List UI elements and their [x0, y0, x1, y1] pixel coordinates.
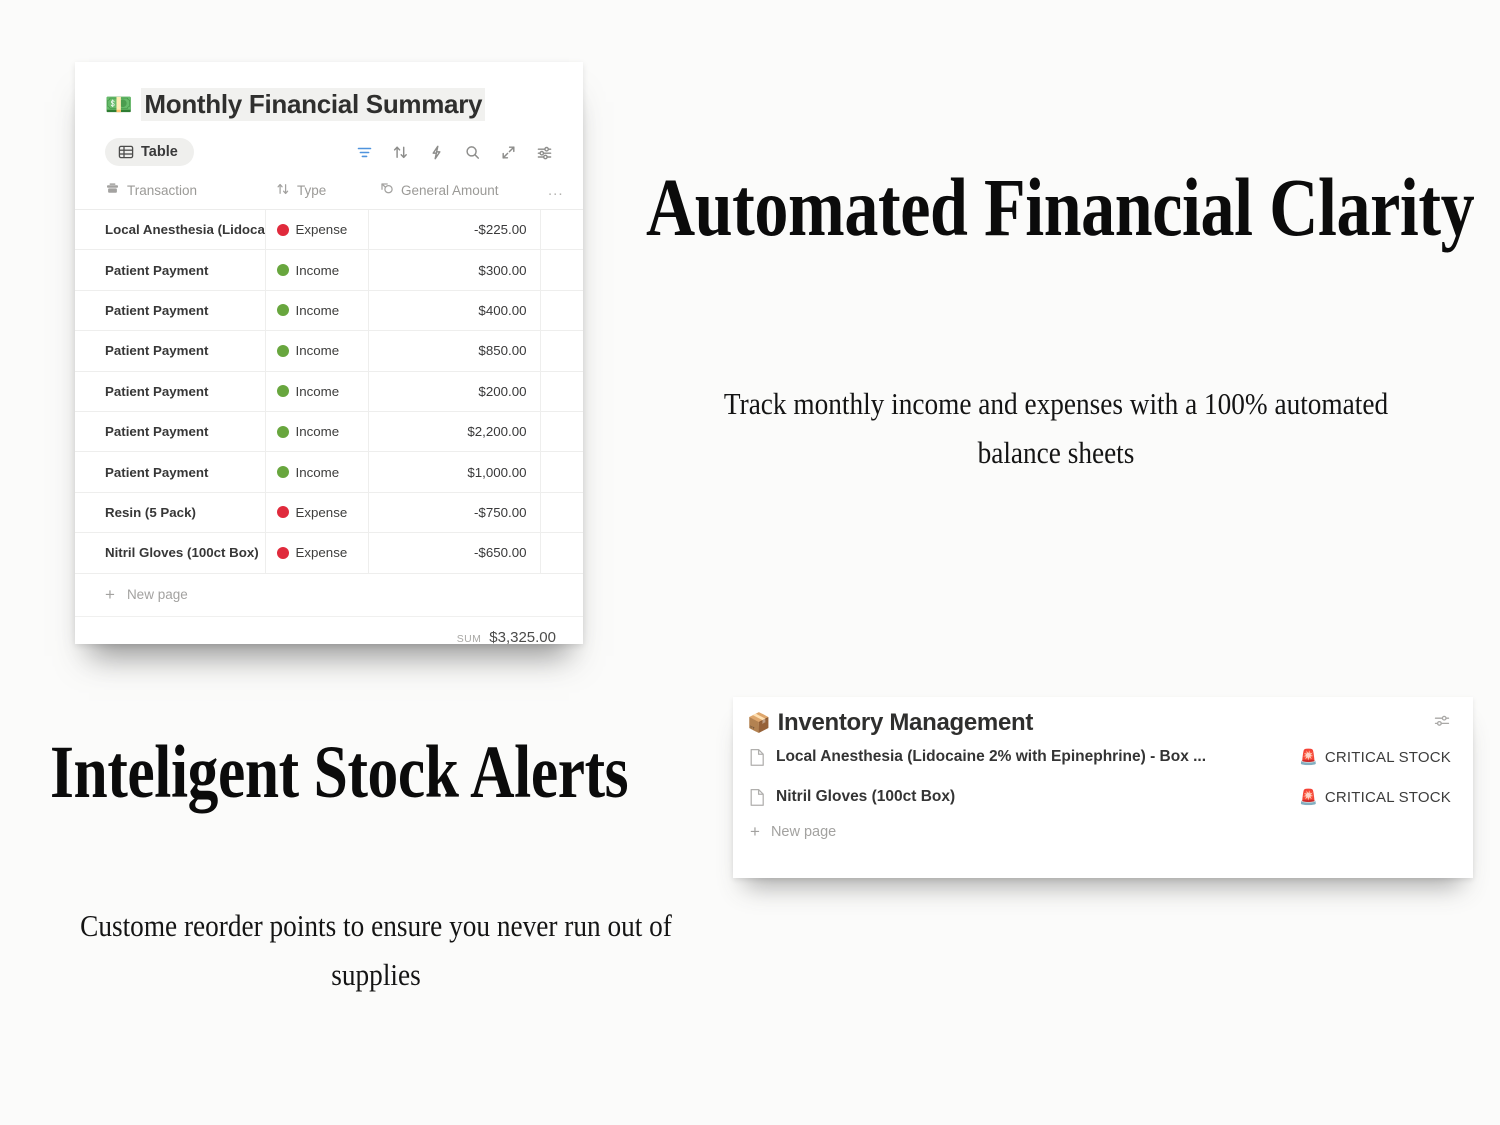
amount-value: $400.00 — [369, 303, 540, 318]
page-title: Monthly Financial Summary — [141, 88, 485, 121]
cell-transaction[interactable]: Patient Payment — [75, 331, 265, 371]
cell-transaction[interactable]: Resin (5 Pack) — [75, 492, 265, 532]
type-label: Expense — [296, 545, 348, 560]
sum-value: $3,325.00 — [489, 629, 556, 646]
cell-transaction[interactable]: Patient Payment — [75, 290, 265, 330]
table-row[interactable]: Local Anesthesia (LidocainExpense-$225.0… — [75, 210, 583, 250]
inventory-new-page-button[interactable]: + New page — [733, 817, 1473, 840]
type-status-dot — [277, 345, 289, 357]
type-status-dot — [277, 547, 289, 559]
table-body: Local Anesthesia (LidocainExpense-$225.0… — [75, 210, 583, 574]
cell-transaction[interactable]: Patient Payment — [75, 371, 265, 411]
heading-inteligent-stock-alerts: Inteligent Stock Alerts — [50, 735, 628, 810]
amount-value: $1,000.00 — [369, 465, 540, 480]
transaction-name: Patient Payment — [75, 424, 265, 439]
transaction-name: Local Anesthesia (Lidocain — [75, 222, 265, 237]
rotating-light-emoji: 🚨 — [1299, 750, 1318, 765]
financial-card-title-row: 💵 Monthly Financial Summary — [75, 88, 583, 121]
type-label: Income — [296, 303, 340, 318]
table-row[interactable]: Resin (5 Pack)Expense-$750.00 — [75, 492, 583, 532]
cell-spacer — [540, 250, 583, 290]
automation-lightning-icon[interactable] — [428, 144, 445, 161]
cell-spacer — [540, 290, 583, 330]
type-status-dot — [277, 304, 289, 316]
type-label: Income — [296, 263, 340, 278]
cell-type[interactable]: Expense — [265, 533, 368, 573]
table-row[interactable]: Nitril Gloves (100ct Box)Expense-$650.00 — [75, 533, 583, 573]
cell-general-amount[interactable]: $300.00 — [368, 250, 540, 290]
inventory-page-title: Inventory Management — [778, 709, 1033, 737]
amount-value: $300.00 — [369, 263, 540, 278]
type-label: Expense — [296, 222, 348, 237]
type-status-dot — [277, 385, 289, 397]
amount-value: $2,200.00 — [369, 424, 540, 439]
view-tab-table[interactable]: Table — [105, 138, 194, 166]
cell-spacer — [540, 331, 583, 371]
cell-type[interactable]: Expense — [265, 492, 368, 532]
transaction-name: Patient Payment — [75, 384, 265, 399]
cell-general-amount[interactable]: -$650.00 — [368, 533, 540, 573]
monthly-financial-summary-card: 💵 Monthly Financial Summary Table — [75, 62, 583, 644]
view-options-icon[interactable] — [1433, 712, 1451, 735]
type-label: Expense — [296, 505, 348, 520]
table-row[interactable]: Patient PaymentIncome$300.00 — [75, 250, 583, 290]
inventory-management-card: 📦 Inventory Management Local Anesthesia … — [733, 697, 1473, 878]
cell-transaction[interactable]: Patient Payment — [75, 250, 265, 290]
cell-transaction[interactable]: Patient Payment — [75, 411, 265, 451]
new-page-button[interactable]: + New page — [75, 574, 583, 617]
type-label: Income — [296, 343, 340, 358]
column-header-label: General Amount — [401, 183, 499, 198]
table-row[interactable]: Patient PaymentIncome$850.00 — [75, 331, 583, 371]
cell-transaction[interactable]: Nitril Gloves (100ct Box) — [75, 533, 265, 573]
list-item[interactable]: Nitril Gloves (100ct Box)🚨CRITICAL STOCK — [733, 777, 1473, 817]
table-icon — [118, 144, 134, 160]
transaction-name: Patient Payment — [75, 465, 265, 480]
inventory-list: Local Anesthesia (Lidocaine 2% with Epin… — [733, 737, 1473, 817]
status-badge: 🚨CRITICAL STOCK — [1299, 749, 1451, 766]
column-header-transaction[interactable]: Transaction — [75, 181, 265, 210]
amount-value: -$225.00 — [369, 222, 540, 237]
status-badge: 🚨CRITICAL STOCK — [1299, 789, 1451, 806]
cell-spacer — [540, 210, 583, 250]
status-badge-label: CRITICAL STOCK — [1325, 789, 1451, 806]
table-header-row: Transaction — [75, 181, 583, 210]
transaction-name: Patient Payment — [75, 263, 265, 278]
title-property-icon — [105, 181, 120, 199]
table-row[interactable]: Patient PaymentIncome$2,200.00 — [75, 411, 583, 451]
rollup-property-icon — [379, 181, 394, 199]
type-status-dot — [277, 506, 289, 518]
column-header-general-amount[interactable]: General Amount — [368, 181, 540, 210]
cell-type[interactable]: Income — [265, 331, 368, 371]
column-header-label: Type — [297, 183, 326, 198]
amount-value: $200.00 — [369, 384, 540, 399]
more-options-icon: ... — [540, 182, 564, 199]
sum-footer[interactable]: SUM $3,325.00 — [75, 617, 583, 646]
database-toolbar: Table — [75, 135, 583, 169]
cell-general-amount[interactable]: $200.00 — [368, 371, 540, 411]
sum-label: SUM — [457, 633, 482, 645]
cell-general-amount[interactable]: $850.00 — [368, 331, 540, 371]
amount-value: $850.00 — [369, 343, 540, 358]
column-header-more[interactable]: ... — [540, 181, 583, 210]
type-status-dot — [277, 224, 289, 236]
transaction-name: Resin (5 Pack) — [75, 505, 265, 520]
cell-spacer — [540, 411, 583, 451]
heading-automated-financial-clarity: Automated Financial Clarity — [646, 166, 1474, 249]
column-header-label: Transaction — [127, 183, 197, 198]
list-item[interactable]: Local Anesthesia (Lidocaine 2% with Epin… — [733, 737, 1473, 777]
search-icon[interactable] — [464, 144, 481, 161]
cell-type[interactable]: Income — [265, 371, 368, 411]
type-status-dot — [277, 264, 289, 276]
expand-icon[interactable] — [500, 144, 517, 161]
table-row[interactable]: Patient PaymentIncome$400.00 — [75, 290, 583, 330]
dollar-banknote-emoji: 💵 — [105, 94, 132, 116]
type-label: Income — [296, 465, 340, 480]
cell-general-amount[interactable]: $2,200.00 — [368, 411, 540, 451]
cell-spacer — [540, 533, 583, 573]
page-document-icon — [749, 748, 766, 767]
package-arrow-emoji: 📦 — [747, 714, 771, 733]
cell-transaction[interactable]: Local Anesthesia (Lidocain — [75, 210, 265, 250]
view-tab-label: Table — [141, 144, 178, 160]
type-status-dot — [277, 466, 289, 478]
status-badge-label: CRITICAL STOCK — [1325, 749, 1451, 766]
toolbar-icon-group — [356, 144, 557, 161]
cell-general-amount[interactable]: $400.00 — [368, 290, 540, 330]
view-options-icon[interactable] — [536, 144, 553, 161]
sort-icon[interactable] — [392, 144, 409, 161]
plus-icon: + — [750, 823, 760, 840]
column-header-type[interactable]: Type — [265, 181, 368, 210]
type-status-dot — [277, 426, 289, 438]
inventory-item-name: Nitril Gloves (100ct Box) — [776, 788, 955, 806]
amount-value: -$750.00 — [369, 505, 540, 520]
cell-transaction[interactable]: Patient Payment — [75, 452, 265, 492]
inventory-item-name: Local Anesthesia (Lidocaine 2% with Epin… — [776, 748, 1206, 766]
transaction-name: Nitril Gloves (100ct Box) — [75, 545, 265, 560]
transaction-name: Patient Payment — [75, 343, 265, 358]
page-document-icon — [749, 788, 766, 807]
inventory-card-header: 📦 Inventory Management — [733, 697, 1473, 737]
table-row[interactable]: Patient PaymentIncome$1,000.00 — [75, 452, 583, 492]
type-label: Income — [296, 424, 340, 439]
rotating-light-emoji: 🚨 — [1299, 790, 1318, 805]
cell-type[interactable]: Income — [265, 452, 368, 492]
transactions-table: Transaction — [75, 181, 583, 574]
select-property-icon — [276, 182, 290, 199]
cell-type[interactable]: Income — [265, 411, 368, 451]
cell-general-amount[interactable]: -$750.00 — [368, 492, 540, 532]
type-label: Income — [296, 384, 340, 399]
table-row[interactable]: Patient PaymentIncome$200.00 — [75, 371, 583, 411]
cell-spacer — [540, 492, 583, 532]
cell-general-amount[interactable]: -$225.00 — [368, 210, 540, 250]
new-page-label: New page — [127, 587, 188, 602]
transaction-name: Patient Payment — [75, 303, 265, 318]
slide-canvas: 💵 Monthly Financial Summary Table — [0, 0, 1500, 1125]
cell-type[interactable]: Income — [265, 250, 368, 290]
filter-icon[interactable] — [356, 144, 373, 161]
cell-type[interactable]: Expense — [265, 210, 368, 250]
cell-spacer — [540, 452, 583, 492]
copy-inteligent-stock-alerts: Custome reorder points to ensure you nev… — [63, 902, 690, 1000]
copy-automated-financial-clarity: Track monthly income and expenses with a… — [686, 380, 1425, 478]
cell-type[interactable]: Income — [265, 290, 368, 330]
new-page-label: New page — [771, 824, 836, 840]
plus-icon: + — [105, 586, 115, 603]
cell-spacer — [540, 371, 583, 411]
cell-general-amount[interactable]: $1,000.00 — [368, 452, 540, 492]
amount-value: -$650.00 — [369, 545, 540, 560]
